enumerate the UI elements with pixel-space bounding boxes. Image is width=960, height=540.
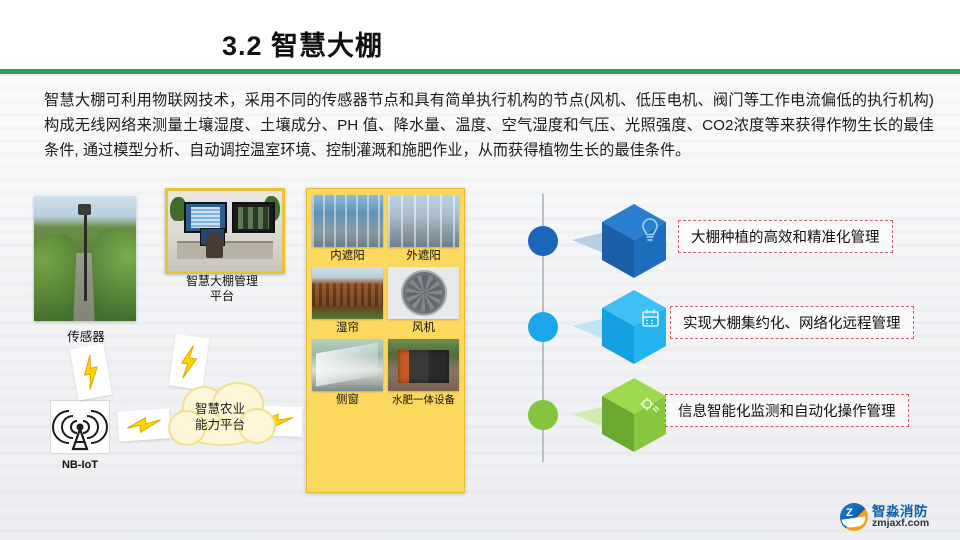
iot-architecture-diagram: 传感器 智慧大棚管理 平台 — [34, 188, 314, 488]
benefits-section: 大棚种植的高效和精准化管理 实现大棚集约化、网络化远程管理 信息智能化监测和自动… — [520, 188, 952, 468]
wet-curtain-photo — [312, 267, 383, 319]
cloud-label: 智慧农业 能力平台 — [195, 401, 245, 433]
platform-label-line2: 平台 — [210, 289, 234, 303]
nbiot-tower-icon — [50, 400, 110, 454]
equipment-item: 外遮阳 — [388, 195, 459, 263]
header-divider-shadow — [0, 74, 960, 77]
outer-shading-photo — [388, 195, 459, 247]
platform-label-line1: 智慧大棚管理 — [186, 274, 258, 288]
lightning-bolt-icon — [117, 408, 171, 442]
platform-label: 智慧大棚管理 平台 — [162, 274, 282, 304]
equipment-caption: 风机 — [412, 322, 435, 335]
nbiot-label: NB-IoT — [44, 458, 116, 473]
greenhouse-sensor-photo — [34, 196, 136, 321]
equipment-caption: 内遮阳 — [330, 250, 365, 263]
equipment-item: 风机 — [388, 267, 459, 335]
equipment-item: 侧窗 — [312, 339, 383, 407]
body-paragraph: 智慧大棚可利用物联网技术，采用不同的传感器节点和具有简单执行机构的节点(风机、低… — [44, 88, 934, 163]
timeline-dot-2 — [528, 312, 558, 342]
site-logo[interactable]: Z 智淼消防 zmjaxf.com — [840, 500, 952, 534]
equipment-panel: 内遮阳 外遮阳 湿帘 风机 侧窗 水肥一体设备 — [306, 188, 465, 493]
timeline-dot-3 — [528, 400, 558, 430]
logo-mark-icon: Z — [840, 503, 868, 531]
fan-photo — [388, 267, 459, 319]
benefit-callout-3: 信息智能化监测和自动化操作管理 — [665, 394, 909, 427]
equipment-caption: 水肥一体设备 — [392, 394, 455, 407]
equipment-caption: 外遮阳 — [406, 250, 441, 263]
equipment-item: 湿帘 — [312, 267, 383, 335]
equipment-item: 水肥一体设备 — [388, 339, 459, 407]
water-fertilizer-photo — [388, 339, 459, 391]
page-title: 3.2 智慧大棚 — [222, 24, 383, 63]
logo-url: zmjaxf.com — [872, 517, 929, 529]
side-window-photo — [312, 339, 383, 391]
cloud-platform-node: 智慧农业 能力平台 — [168, 382, 272, 452]
timeline-dot-1 — [528, 226, 558, 256]
cloud-label-line2: 能力平台 — [195, 418, 245, 432]
management-platform-photo — [165, 188, 285, 274]
equipment-caption: 侧窗 — [336, 394, 359, 407]
equipment-item: 内遮阳 — [312, 195, 383, 263]
inner-shading-photo — [312, 195, 383, 247]
sensor-label: 传感器 — [36, 330, 136, 345]
lightning-bolt-icon — [70, 343, 113, 400]
equipment-caption: 湿帘 — [336, 322, 359, 335]
benefit-callout-2: 实现大棚集约化、网络化远程管理 — [670, 306, 914, 339]
slide-canvas: 3.2 智慧大棚 智慧大棚可利用物联网技术，采用不同的传感器节点和具有简单执行机… — [0, 0, 960, 540]
cloud-label-line1: 智慧农业 — [195, 402, 245, 416]
benefit-callout-1: 大棚种植的高效和精准化管理 — [678, 220, 893, 253]
